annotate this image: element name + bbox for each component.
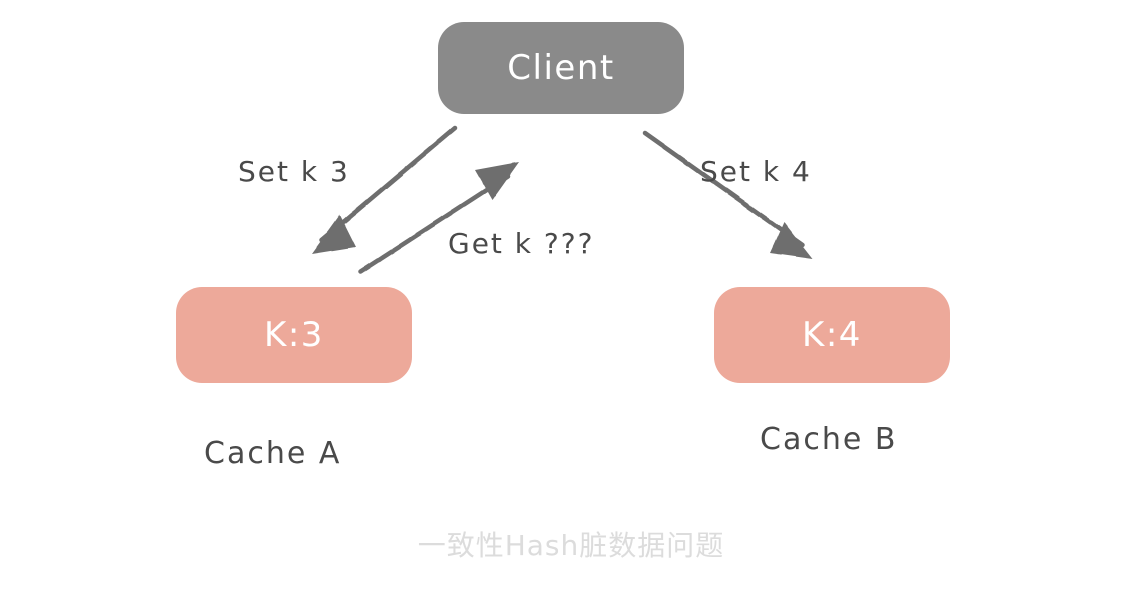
edge-label-set-k4: Set k 4 xyxy=(700,155,812,188)
node-cache-b-label: K:4 xyxy=(802,315,862,355)
node-cache-a[interactable]: K:3 xyxy=(176,287,412,383)
arrow-set-k4 xyxy=(645,133,813,259)
node-caption-cache-a: Cache A xyxy=(204,436,341,471)
node-cache-a-label: K:3 xyxy=(264,315,324,355)
arrow-set-k3 xyxy=(312,128,455,254)
diagram-canvas: Client K:3 K:4 Set k 3 Set k 4 Get k ???… xyxy=(0,0,1142,591)
node-client-label: Client xyxy=(507,48,614,88)
node-client[interactable]: Client xyxy=(438,22,684,114)
diagram-caption: 一致性Hash脏数据问题 xyxy=(0,524,1142,564)
edge-label-set-k3: Set k 3 xyxy=(238,155,350,188)
edge-label-get-k: Get k ??? xyxy=(448,227,595,260)
node-cache-b[interactable]: K:4 xyxy=(714,287,950,383)
node-caption-cache-b: Cache B xyxy=(760,422,897,457)
